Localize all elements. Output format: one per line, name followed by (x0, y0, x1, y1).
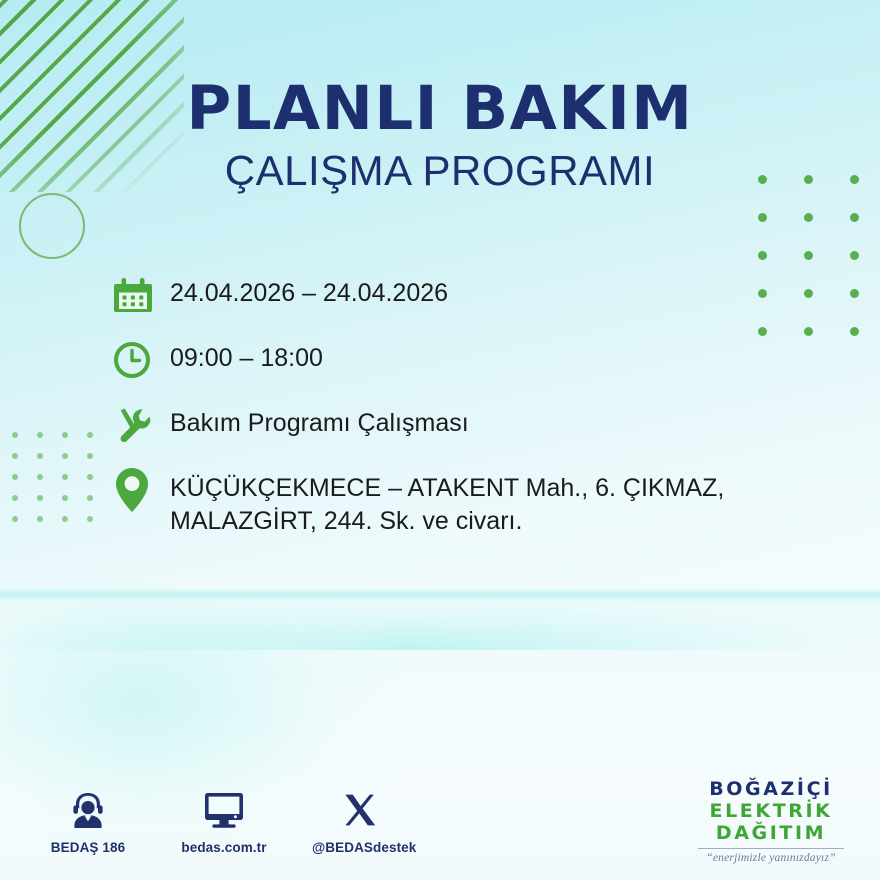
x-twitter-icon (312, 786, 408, 834)
detail-date-text: 24.04.2026 – 24.04.2026 (170, 272, 448, 310)
decor-dot (62, 432, 68, 438)
monitor-icon (176, 786, 272, 834)
decor-dot (850, 213, 859, 222)
decor-dot (87, 453, 93, 459)
circle-outline-decoration (19, 193, 85, 259)
decor-dot (758, 251, 767, 260)
page-subtitle: ÇALIŞMA PROGRAMI (0, 149, 880, 193)
brand-line-dagitim: DAĞITIM (686, 822, 856, 844)
decor-dot (850, 251, 859, 260)
planned-maintenance-poster: PLANLI BAKIM ÇALIŞMA PROGRAMI (0, 0, 880, 880)
clock-icon (112, 337, 170, 383)
decor-dot (12, 453, 18, 459)
brand-logo: BOĞAZİÇİ ELEKTRİK DAĞITIM “enerjimizle y… (686, 778, 856, 864)
decor-dot (12, 516, 18, 522)
decor-dot (12, 474, 18, 480)
detail-row-work-type: Bakım Programı Çalışması (112, 402, 812, 448)
contact-website[interactable]: bedas.com.tr (176, 786, 272, 855)
brand-line-bogazici: BOĞAZİÇİ (686, 778, 856, 800)
decor-dot (62, 474, 68, 480)
poster-heading: PLANLI BAKIM ÇALIŞMA PROGRAMI (0, 78, 880, 193)
detail-work-type-text: Bakım Programı Çalışması (170, 402, 469, 440)
decor-dot (87, 495, 93, 501)
brand-divider (698, 848, 844, 849)
call-center-agent-icon (40, 786, 136, 834)
decor-dot (850, 327, 859, 336)
decor-dot (37, 495, 43, 501)
decor-dot (37, 516, 43, 522)
footer-contacts: BEDAŞ 186 bedas.com.tr @BEDASdestek (40, 786, 408, 855)
page-title: PLANLI BAKIM (0, 78, 880, 140)
detail-address-text: KÜÇÜKÇEKMECE – ATAKENT Mah., 6. ÇIKMAZ, … (170, 467, 790, 538)
contact-call-center[interactable]: BEDAŞ 186 (40, 786, 136, 855)
tools-icon (112, 402, 170, 448)
decor-dot (62, 516, 68, 522)
detail-row-date: 24.04.2026 – 24.04.2026 (112, 272, 812, 318)
maintenance-details-list: 24.04.2026 – 24.04.2026 09:00 – 18:00 (112, 272, 812, 557)
dot-grid-left-decoration (12, 432, 112, 537)
decor-dot (62, 453, 68, 459)
detail-row-address: KÜÇÜKÇEKMECE – ATAKENT Mah., 6. ÇIKMAZ, … (112, 467, 812, 538)
decor-dot (87, 432, 93, 438)
decor-dot (37, 474, 43, 480)
contact-website-label: bedas.com.tr (176, 840, 272, 855)
decor-dot (850, 289, 859, 298)
decor-dot (804, 251, 813, 260)
detail-time-text: 09:00 – 18:00 (170, 337, 323, 375)
decor-dot (12, 495, 18, 501)
decor-dot (37, 432, 43, 438)
decor-dot (87, 474, 93, 480)
decor-dot (87, 516, 93, 522)
decor-dot (62, 495, 68, 501)
location-pin-icon (112, 467, 170, 513)
detail-row-time: 09:00 – 18:00 (112, 337, 812, 383)
contact-x-label: @BEDASdestek (312, 840, 408, 855)
brand-tagline: “enerjimizle yanınızdayız” (686, 852, 856, 864)
contact-x-social[interactable]: @BEDASdestek (312, 786, 408, 855)
decor-dot (12, 432, 18, 438)
brand-line-elektrik: ELEKTRİK (686, 800, 856, 822)
decor-dot (804, 213, 813, 222)
contact-call-center-label: BEDAŞ 186 (40, 840, 136, 855)
decor-dot (37, 453, 43, 459)
decor-dot (758, 213, 767, 222)
calendar-icon (112, 272, 170, 318)
